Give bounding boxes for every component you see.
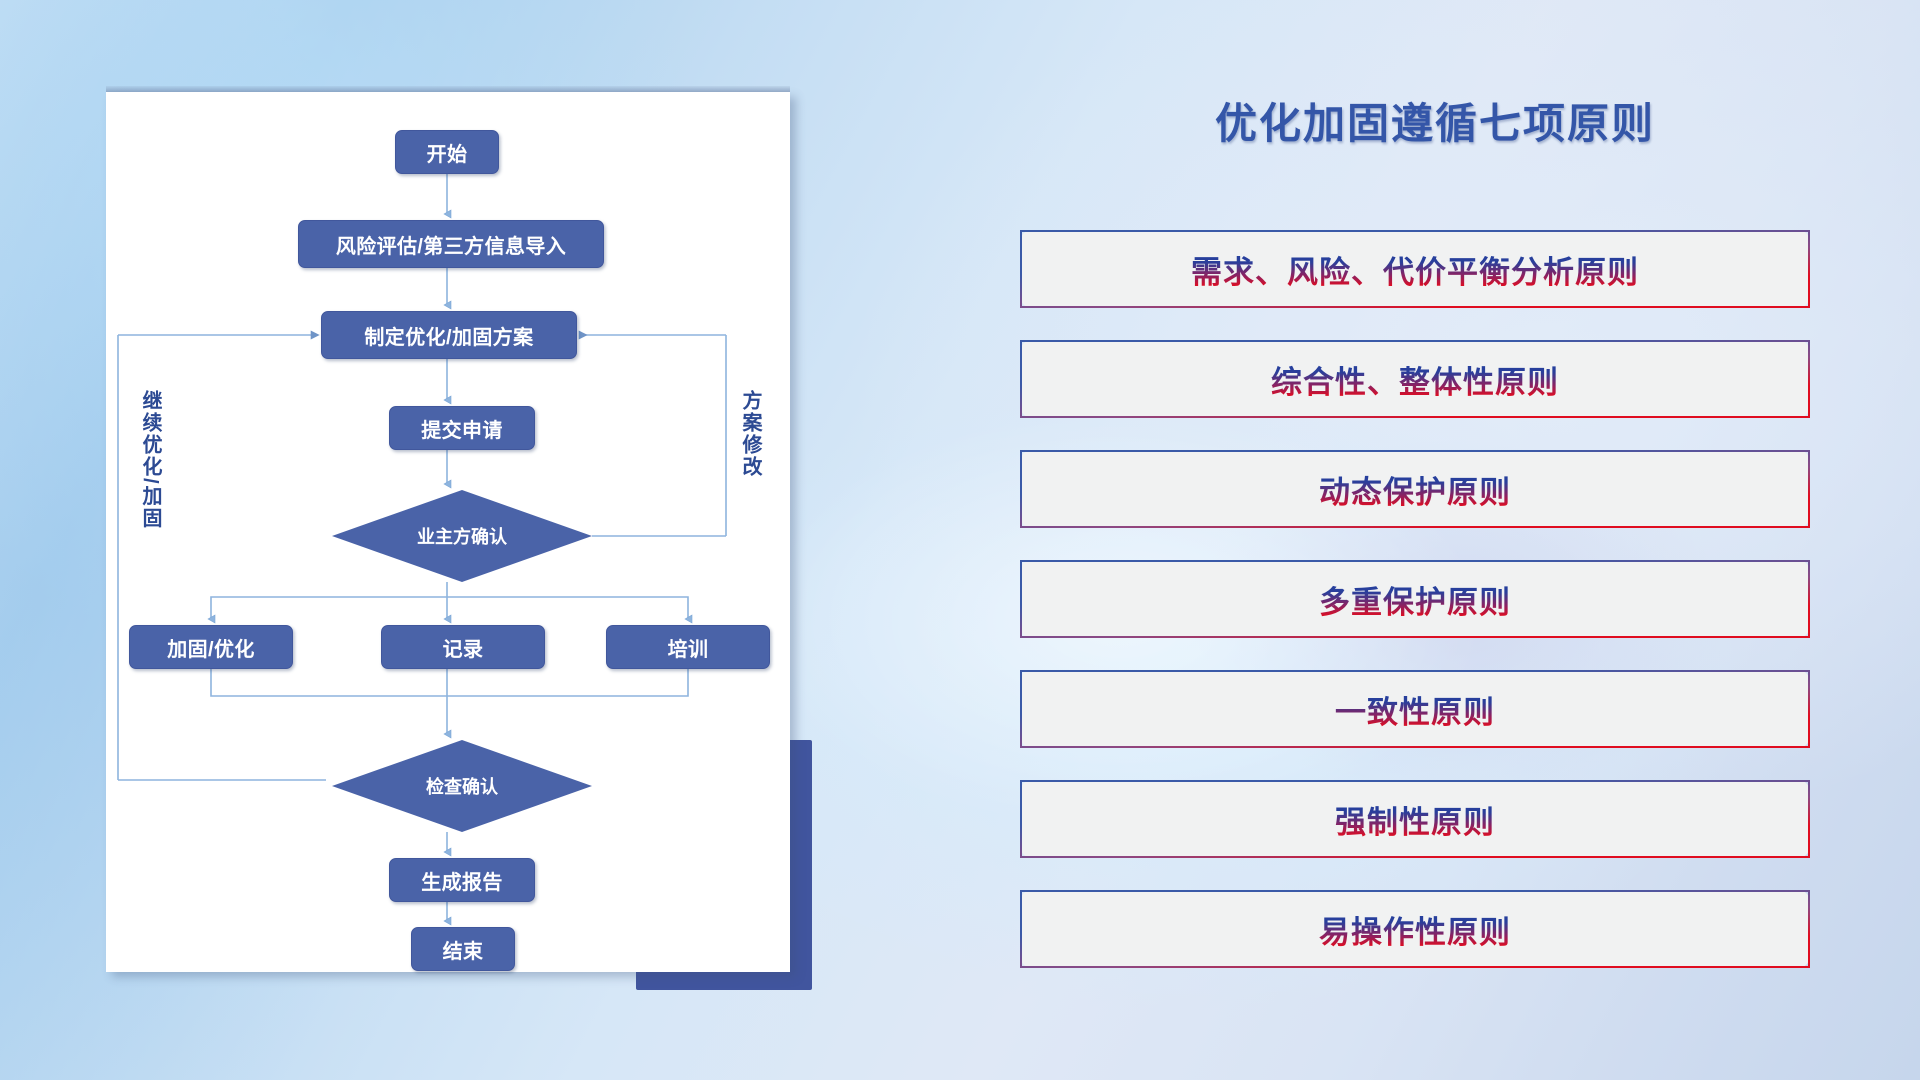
principle-label: 一致性原则 (1335, 687, 1495, 732)
flow-node-label: 记录 (443, 633, 484, 662)
flow-node-label: 风险评估/第三方信息导入 (336, 230, 566, 259)
principle-label: 强制性原则 (1335, 797, 1495, 842)
flow-node-label: 开始 (427, 138, 468, 167)
flow-node-start[interactable]: 开始 (395, 130, 499, 174)
principle-label: 多重保护原则 (1319, 577, 1511, 622)
principle-item-6[interactable]: 强制性原则 (1020, 780, 1810, 858)
principles-panel: 优化加固遵循七项原则 需求、风险、代价平衡分析原则 综合性、整体性原则 动态保护… (1020, 90, 1850, 1040)
flow-node-label: 生成报告 (421, 866, 503, 895)
flow-node-label: 提交申请 (421, 414, 503, 443)
flow-node-label: 检查确认 (426, 773, 498, 799)
flow-node-label: 制定优化/加固方案 (364, 321, 533, 350)
principle-item-1[interactable]: 需求、风险、代价平衡分析原则 (1020, 230, 1810, 308)
principle-label: 易操作性原则 (1319, 907, 1511, 952)
flow-node-end[interactable]: 结束 (411, 927, 515, 971)
principle-item-4[interactable]: 多重保护原则 (1020, 560, 1810, 638)
principle-item-7[interactable]: 易操作性原则 (1020, 890, 1810, 968)
flowchart-card: 开始 风险评估/第三方信息导入 制定优化/加固方案 提交申请 业主方确认 加固/… (106, 92, 790, 972)
flow-node-owner-confirm[interactable]: 业主方确认 (332, 490, 592, 582)
flow-node-label: 加固/优化 (167, 633, 255, 662)
flow-node-label: 结束 (443, 935, 484, 964)
flow-node-submit-application[interactable]: 提交申请 (389, 406, 535, 450)
principle-label: 综合性、整体性原则 (1271, 357, 1559, 402)
flow-node-label: 业主方确认 (417, 523, 507, 549)
edge-label-continue-optimize: 继续优化/加固 (136, 390, 165, 530)
flow-node-label: 培训 (668, 633, 709, 662)
edge-label-plan-revise: 方案修改 (736, 390, 765, 478)
principle-label: 动态保护原则 (1319, 467, 1511, 512)
flow-node-generate-report[interactable]: 生成报告 (389, 858, 535, 902)
flow-node-check-confirm[interactable]: 检查确认 (332, 740, 592, 832)
flow-node-plan[interactable]: 制定优化/加固方案 (321, 311, 577, 359)
page-title: 优化加固遵循七项原则 (1020, 90, 1850, 151)
principle-item-5[interactable]: 一致性原则 (1020, 670, 1810, 748)
principle-label: 需求、风险、代价平衡分析原则 (1191, 247, 1639, 292)
flow-node-training[interactable]: 培训 (606, 625, 770, 669)
flow-node-risk-assessment[interactable]: 风险评估/第三方信息导入 (298, 220, 604, 268)
principle-item-3[interactable]: 动态保护原则 (1020, 450, 1810, 528)
flow-node-reinforce-optimize[interactable]: 加固/优化 (129, 625, 293, 669)
principle-item-2[interactable]: 综合性、整体性原则 (1020, 340, 1810, 418)
flow-node-record[interactable]: 记录 (381, 625, 545, 669)
